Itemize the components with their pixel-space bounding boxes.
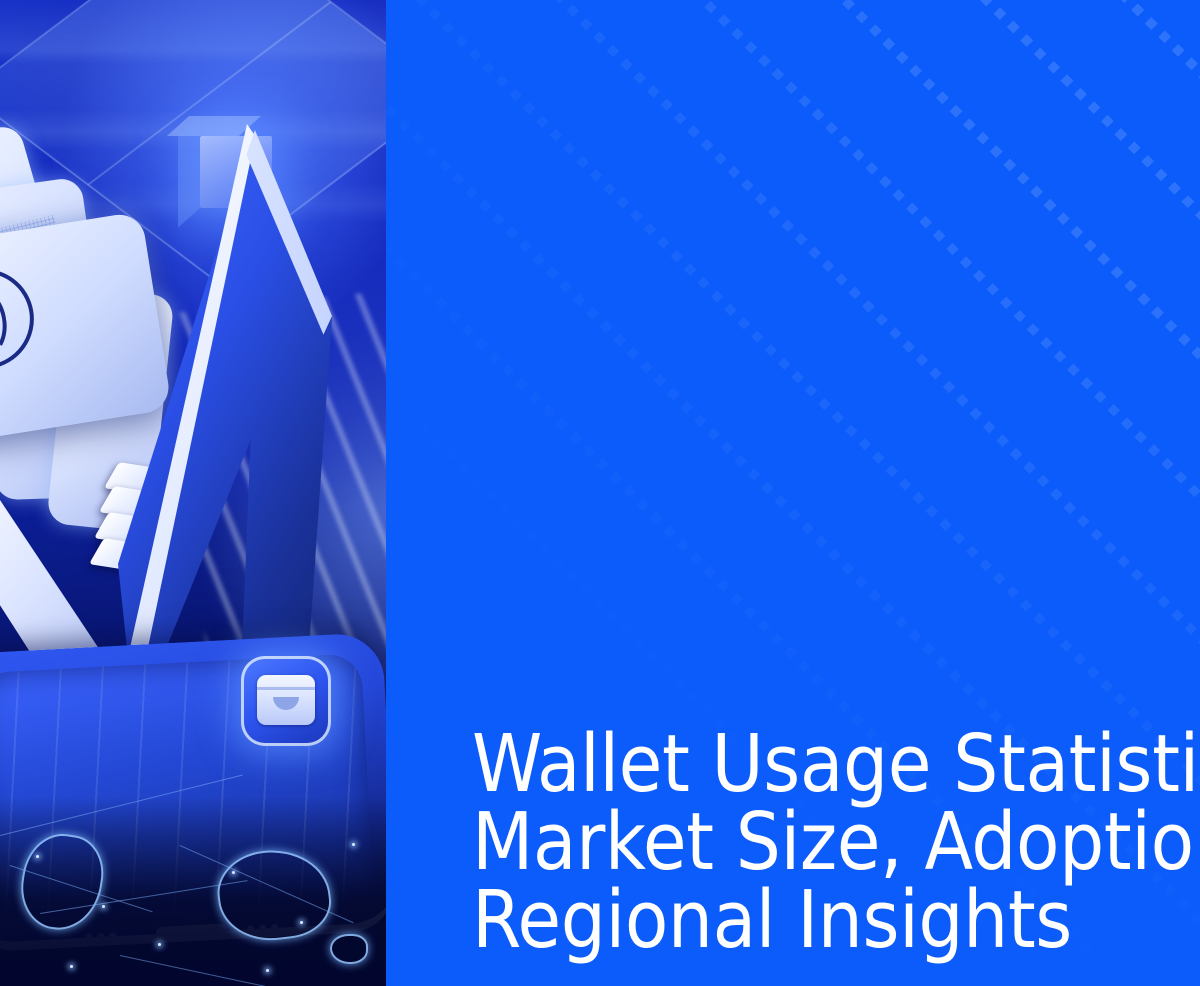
network-node <box>158 943 161 946</box>
banner-canvas: Wallet Usage Statistics Market Size, Ado… <box>0 0 1200 986</box>
continent-new-zealand <box>330 934 368 964</box>
title-line-3: Regional Insights <box>472 881 1200 959</box>
network-line <box>120 955 345 986</box>
page-title: Wallet Usage Statistics Market Size, Ado… <box>472 725 1200 959</box>
title-line-1: Wallet Usage Statistics <box>472 725 1200 803</box>
content-panel: Wallet Usage Statistics Market Size, Ado… <box>386 0 1200 986</box>
network-node <box>266 969 269 972</box>
wallet-icon-glyph <box>257 675 315 725</box>
world-network-map <box>0 796 386 986</box>
wallet-icon <box>241 656 331 746</box>
network-node <box>36 855 39 858</box>
hero-image-panel <box>0 0 386 986</box>
network-node <box>102 905 105 908</box>
network-node <box>70 965 73 968</box>
network-node <box>232 871 235 874</box>
network-node <box>300 921 303 924</box>
continent-australia <box>213 844 335 947</box>
title-line-2: Market Size, Adoption <box>472 803 1200 881</box>
network-node <box>352 843 355 846</box>
